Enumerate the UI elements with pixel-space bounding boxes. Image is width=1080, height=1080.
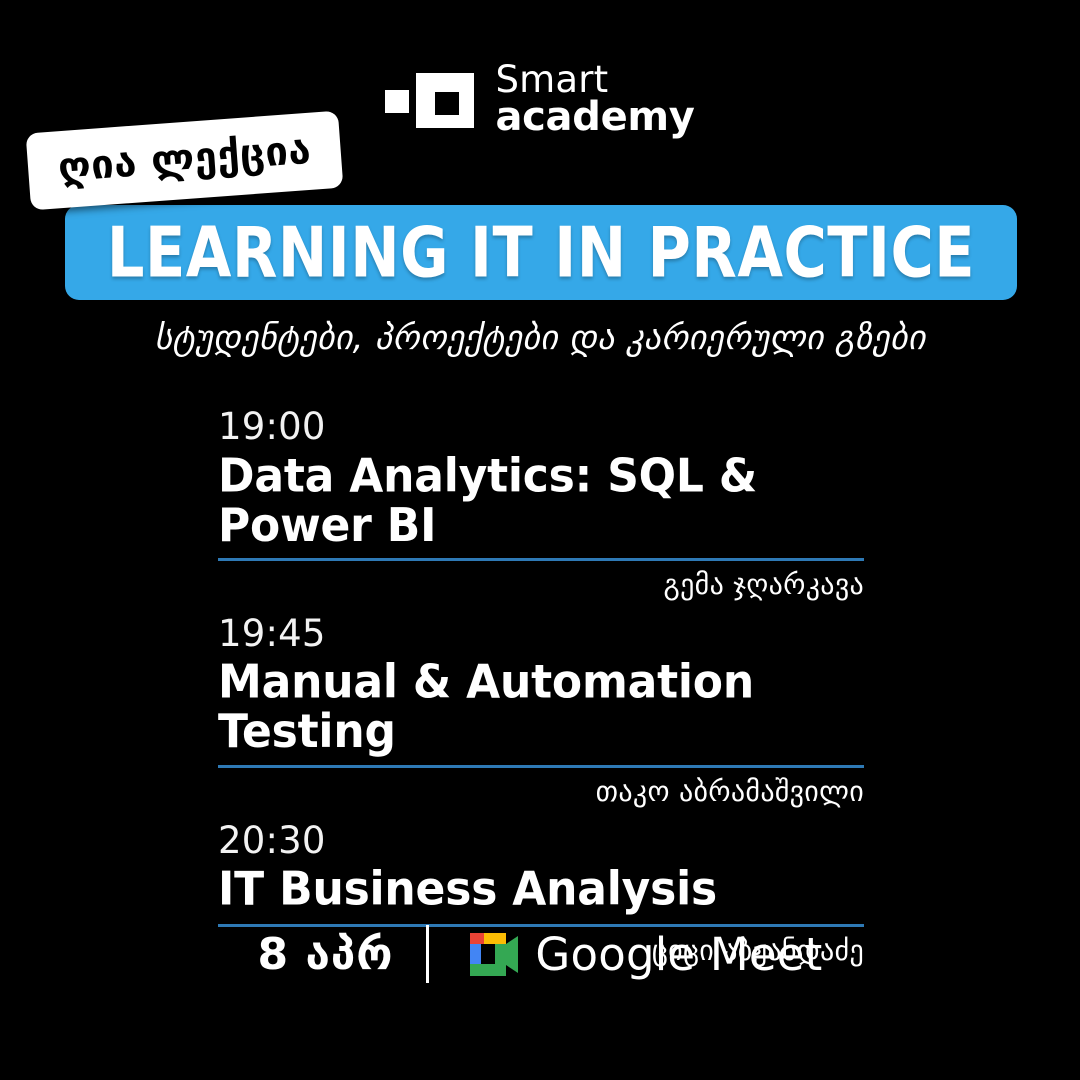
smart-academy-squares-icon xyxy=(385,70,463,128)
event-date: 8 აპრ xyxy=(258,929,394,980)
schedule-item: 19:45 Manual & Automation Testing თაკო ა… xyxy=(218,612,864,808)
subtitle: სტუდენტები, პროექტები და კარიერული გზები xyxy=(0,318,1080,358)
google-meet-icon xyxy=(462,931,518,978)
schedule-item-divider xyxy=(218,558,864,561)
schedule-item-speaker: გემა ჯღარკავა xyxy=(218,568,864,601)
schedule-list: 19:00 Data Analytics: SQL & Power BI გემ… xyxy=(218,405,864,967)
schedule-item: 19:00 Data Analytics: SQL & Power BI გემ… xyxy=(218,405,864,601)
schedule-item-divider xyxy=(218,765,864,768)
headline-title: LEARNING IT IN PRACTICE xyxy=(107,212,975,293)
brand-line-smart: Smart xyxy=(495,62,694,98)
schedule-item-title: IT Business Analysis xyxy=(218,864,864,914)
brand-wordmark: Smart academy xyxy=(495,62,694,137)
schedule-item-title: Data Analytics: SQL & Power BI xyxy=(218,451,864,551)
brand-line-academy: academy xyxy=(495,98,694,137)
schedule-item-title: Manual & Automation Testing xyxy=(218,657,864,757)
spacer xyxy=(218,601,864,612)
poster-canvas: Smart academy ღია ლექცია LEARNING IT IN … xyxy=(0,0,1080,1080)
logo-inner-square xyxy=(435,92,459,115)
schedule-item-speaker: თაკო აბრამაშვილი xyxy=(218,775,864,808)
schedule-item-time: 19:45 xyxy=(218,612,864,656)
platform-label: Google Meet xyxy=(535,928,822,981)
schedule-item-time: 20:30 xyxy=(218,819,864,863)
platform-group: Google Meet xyxy=(462,928,822,981)
footer-divider xyxy=(426,925,429,983)
logo-small-square xyxy=(385,90,409,113)
footer: 8 აპრ Google Meet xyxy=(0,925,1080,983)
open-lecture-badge-label: ღია ლექცია xyxy=(57,127,313,191)
spacer xyxy=(218,808,864,819)
headline-banner: LEARNING IT IN PRACTICE xyxy=(65,205,1017,300)
schedule-item-time: 19:00 xyxy=(218,405,864,449)
